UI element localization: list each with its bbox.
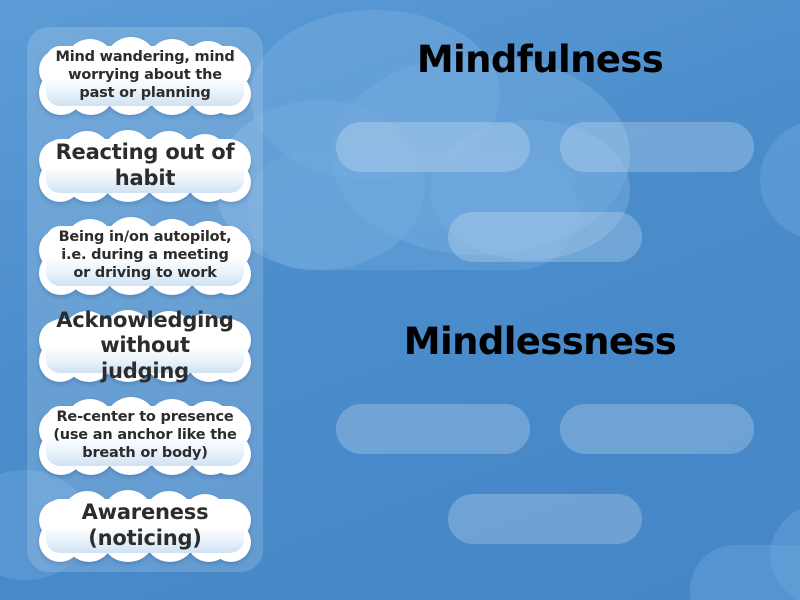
card-label: Awareness (noticing) <box>39 490 251 562</box>
card-label: Re-center to presence (use an anchor lik… <box>39 397 251 475</box>
draggable-card[interactable]: Acknowledging without judging <box>39 310 251 382</box>
draggable-card[interactable]: Re-center to presence (use an anchor lik… <box>39 397 251 475</box>
category-mindlessness: Mindlessness <box>300 320 780 570</box>
draggable-card[interactable]: Reacting out of habit <box>39 130 251 202</box>
card-label: Mind wandering, mind worrying about the … <box>39 37 251 115</box>
category-title: Mindfulness <box>300 38 780 81</box>
drop-slot[interactable] <box>336 404 530 454</box>
card-label: Reacting out of habit <box>39 130 251 202</box>
draggable-cards-tray: Mind wandering, mind worrying about the … <box>27 27 263 572</box>
drop-slot[interactable] <box>448 212 642 262</box>
drop-slot[interactable] <box>448 494 642 544</box>
category-mindfulness: Mindfulness <box>300 38 780 288</box>
activity-stage: Mind wandering, mind worrying about the … <box>0 0 800 600</box>
card-label: Acknowledging without judging <box>39 310 251 382</box>
draggable-card[interactable]: Awareness (noticing) <box>39 490 251 562</box>
draggable-card[interactable]: Being in/on autopilot, i.e. during a mee… <box>39 217 251 295</box>
drop-slot[interactable] <box>560 404 754 454</box>
card-label: Being in/on autopilot, i.e. during a mee… <box>39 217 251 295</box>
drop-slot[interactable] <box>560 122 754 172</box>
category-title: Mindlessness <box>300 320 780 363</box>
draggable-card[interactable]: Mind wandering, mind worrying about the … <box>39 37 251 115</box>
drop-slot[interactable] <box>336 122 530 172</box>
